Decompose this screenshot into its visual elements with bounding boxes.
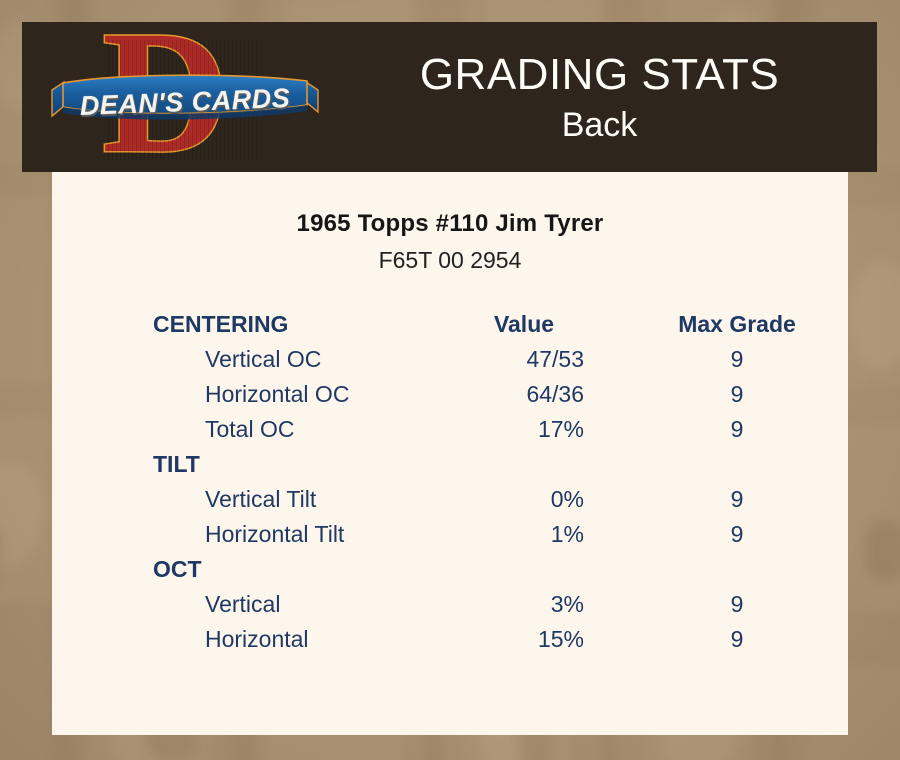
row-label: Horizontal xyxy=(52,622,422,657)
table-head: CENTERING Value Max Grade xyxy=(52,307,848,342)
row-grade: 9 xyxy=(632,342,848,377)
section-value-spacer xyxy=(422,552,632,587)
table-row: Horizontal 15% 9 xyxy=(52,622,848,657)
column-header-section: CENTERING xyxy=(52,307,422,342)
table-row: Horizontal Tilt 1% 9 xyxy=(52,517,848,552)
row-grade: 9 xyxy=(632,587,848,622)
row-value: 17% xyxy=(422,412,632,447)
row-value: 47/53 xyxy=(422,342,632,377)
row-grade: 9 xyxy=(632,622,848,657)
row-value: 0% xyxy=(422,482,632,517)
page-subtitle: Back xyxy=(562,104,638,146)
logo-ribbon: DEAN'S CARDS xyxy=(50,72,320,132)
header-bar: D D xyxy=(22,22,877,172)
row-label: Vertical xyxy=(52,587,422,622)
table-row: Vertical OC 47/53 9 xyxy=(52,342,848,377)
row-value: 15% xyxy=(422,622,632,657)
card-serial: F65T 00 2954 xyxy=(52,247,848,274)
table-section-row: OCT xyxy=(52,552,848,587)
column-header-value: Value xyxy=(422,307,632,342)
section-grade-spacer xyxy=(632,447,848,482)
content-panel: 1965 Topps #110 Jim Tyrer F65T 00 2954 C… xyxy=(52,172,848,735)
section-grade-spacer xyxy=(632,552,848,587)
row-value: 1% xyxy=(422,517,632,552)
logo-ribbon-text: DEAN'S CARDS xyxy=(49,67,321,137)
grading-stats-page: D D xyxy=(0,0,900,760)
table-row: Vertical 3% 9 xyxy=(52,587,848,622)
section-header-tilt: TILT xyxy=(52,447,422,482)
row-label: Horizontal Tilt xyxy=(52,517,422,552)
table-row: Total OC 17% 9 xyxy=(52,412,848,447)
row-grade: 9 xyxy=(632,482,848,517)
card-title: 1965 Topps #110 Jim Tyrer xyxy=(52,210,848,238)
deans-cards-logo[interactable]: D D xyxy=(50,24,320,170)
row-value: 3% xyxy=(422,587,632,622)
section-value-spacer xyxy=(422,447,632,482)
row-grade: 9 xyxy=(632,412,848,447)
table-row: Vertical Tilt 0% 9 xyxy=(52,482,848,517)
grading-stats-table: CENTERING Value Max Grade Vertical OC 47… xyxy=(52,307,848,657)
row-grade: 9 xyxy=(632,517,848,552)
row-value: 64/36 xyxy=(422,377,632,412)
row-label: Total OC xyxy=(52,412,422,447)
row-label: Vertical OC xyxy=(52,342,422,377)
table-body: Vertical OC 47/53 9 Horizontal OC 64/36 … xyxy=(52,342,848,657)
page-title: GRADING STATS xyxy=(420,48,779,102)
table-row: Horizontal OC 64/36 9 xyxy=(52,377,848,412)
header-titles: GRADING STATS Back xyxy=(322,22,877,172)
table-section-row: TILT xyxy=(52,447,848,482)
row-label: Vertical Tilt xyxy=(52,482,422,517)
row-label: Horizontal OC xyxy=(52,377,422,412)
column-header-grade: Max Grade xyxy=(632,307,848,342)
row-grade: 9 xyxy=(632,377,848,412)
section-header-oct: OCT xyxy=(52,552,422,587)
table-header-row: CENTERING Value Max Grade xyxy=(52,307,848,342)
